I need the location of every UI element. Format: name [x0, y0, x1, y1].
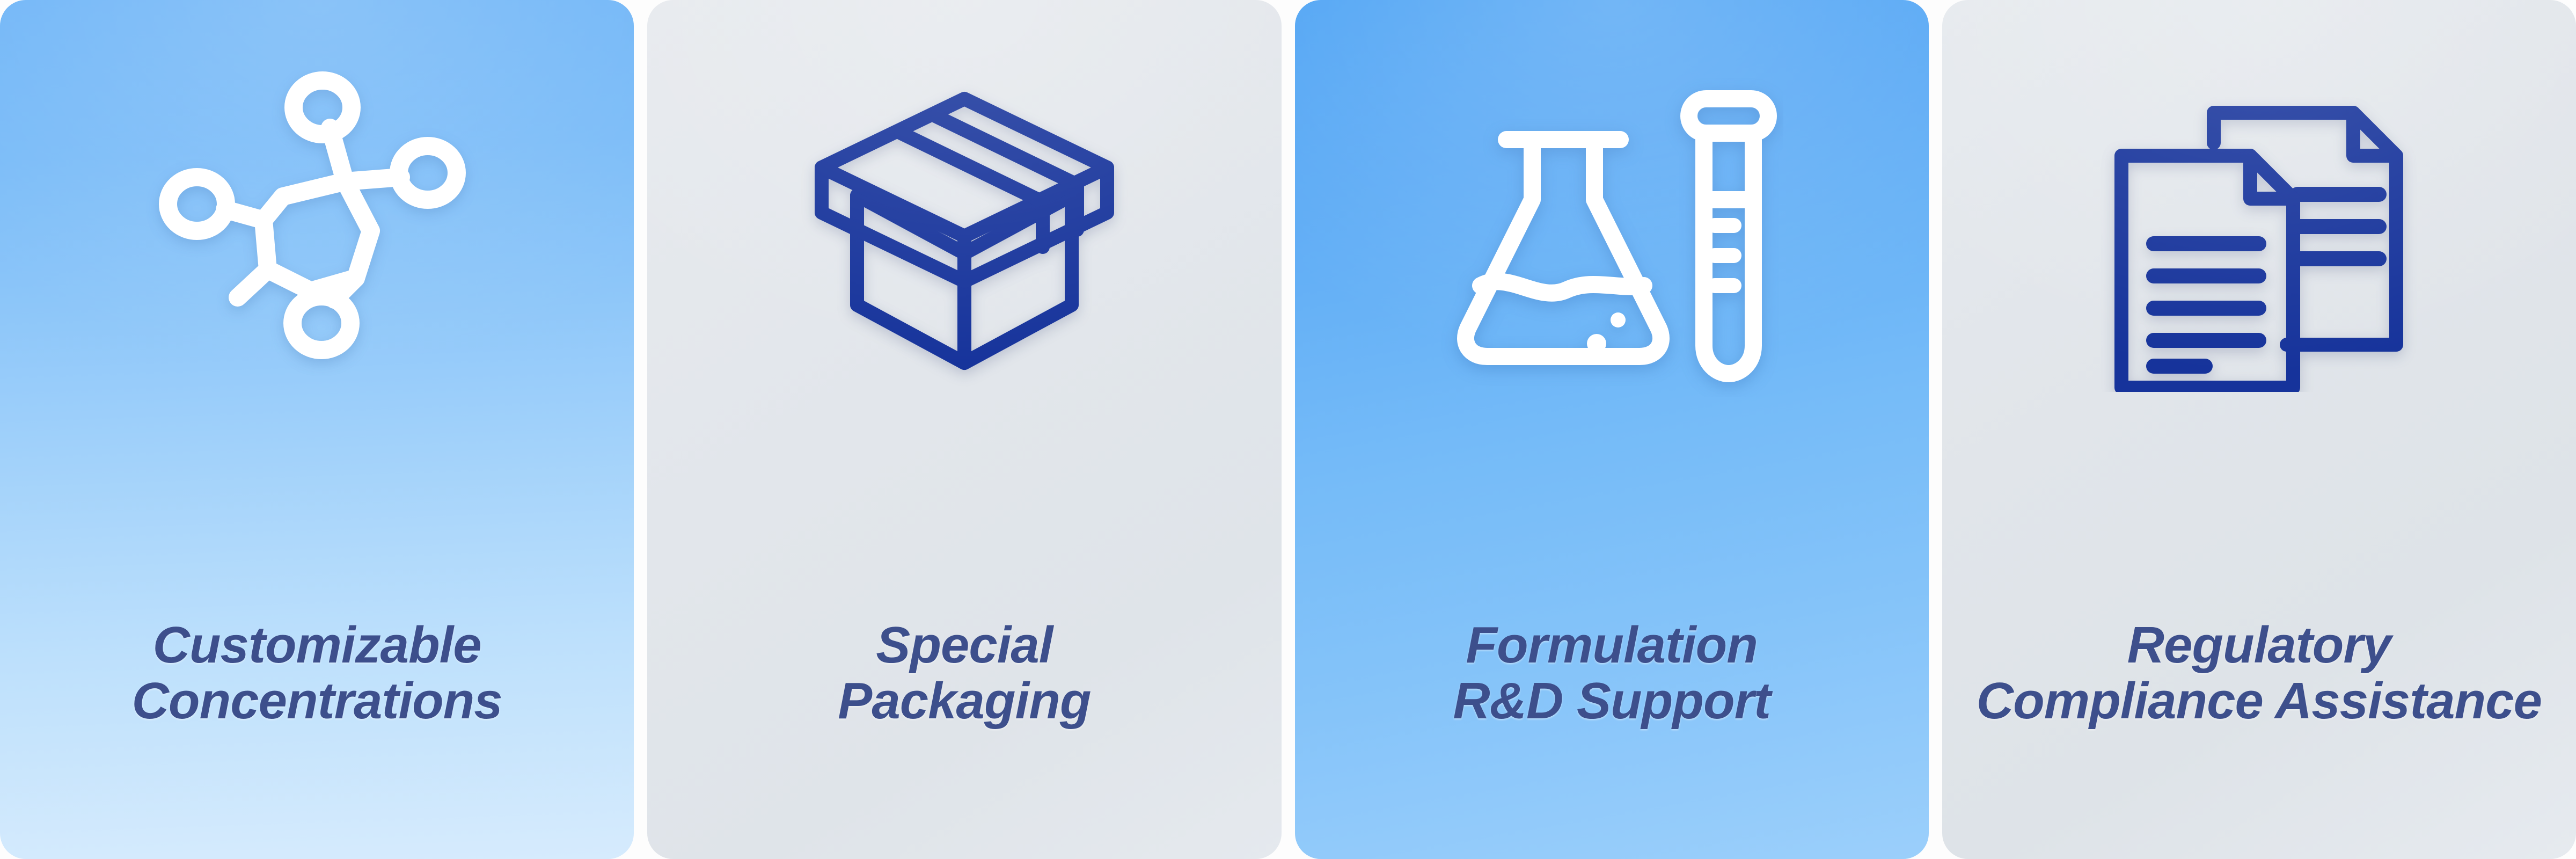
card-label-line2: R&D Support: [1310, 673, 1914, 729]
card-label: Formulation R&D Support: [1295, 617, 1929, 729]
card-label-line1: Formulation: [1466, 616, 1758, 674]
card-label: Special Packaging: [647, 617, 1281, 729]
feature-card-row: Customizable Concentrations: [0, 0, 2576, 859]
feature-card-formulation-rd-support[interactable]: Formulation R&D Support: [1295, 0, 1929, 859]
feature-card-special-packaging[interactable]: Special Packaging: [647, 0, 1281, 859]
flask-test-tube-icon: [1295, 32, 1929, 440]
documents-icon: [1942, 32, 2576, 440]
card-label-line1: Customizable: [153, 616, 481, 674]
card-label-line1: Regulatory: [2127, 616, 2391, 674]
card-label-line2: Concentrations: [15, 673, 619, 729]
feature-card-regulatory-compliance-assistance[interactable]: Regulatory Compliance Assistance: [1942, 0, 2576, 859]
card-label-line1: Special: [876, 616, 1052, 674]
feature-card-customizable-concentrations[interactable]: Customizable Concentrations: [0, 0, 634, 859]
package-box-icon: [647, 32, 1281, 440]
molecule-icon: [0, 32, 634, 440]
card-label: Customizable Concentrations: [0, 617, 634, 729]
card-label: Regulatory Compliance Assistance: [1942, 617, 2576, 729]
card-label-line2: Packaging: [662, 673, 1266, 729]
card-label-line2: Compliance Assistance: [1957, 673, 2561, 729]
